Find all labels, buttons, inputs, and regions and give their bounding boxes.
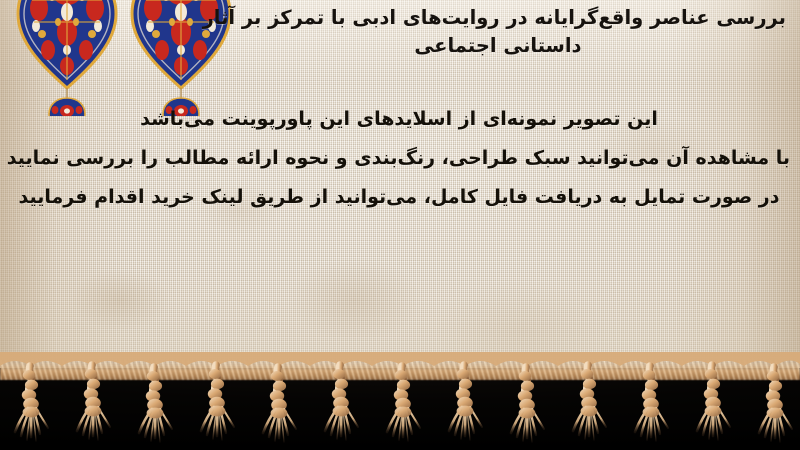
ornament-medallion-left: [8, 0, 126, 116]
title-line-2: داستانی اجتماعی: [210, 32, 786, 60]
slide-body: این تصویر نمونه‌ای از اسلایدهای این پاور…: [8, 110, 790, 227]
body-line-2: با مشاهده آن می‌توانید سبک طراحی، رنگ‌بن…: [8, 149, 790, 168]
carpet-tassel-fringe: [0, 352, 800, 450]
slide-title: بررسی عناصر واقع‌گرایانه در روایت‌های اد…: [210, 4, 786, 59]
title-line-1: بررسی عناصر واقع‌گرایانه در روایت‌های اد…: [210, 4, 786, 32]
body-line-3: در صورت تمایل به دریافت فایل کامل، می‌تو…: [8, 188, 790, 207]
body-line-1: این تصویر نمونه‌ای از اسلایدهای این پاور…: [8, 110, 790, 129]
slide-canvas: بررسی عناصر واقع‌گرایانه در روایت‌های اد…: [0, 0, 800, 450]
